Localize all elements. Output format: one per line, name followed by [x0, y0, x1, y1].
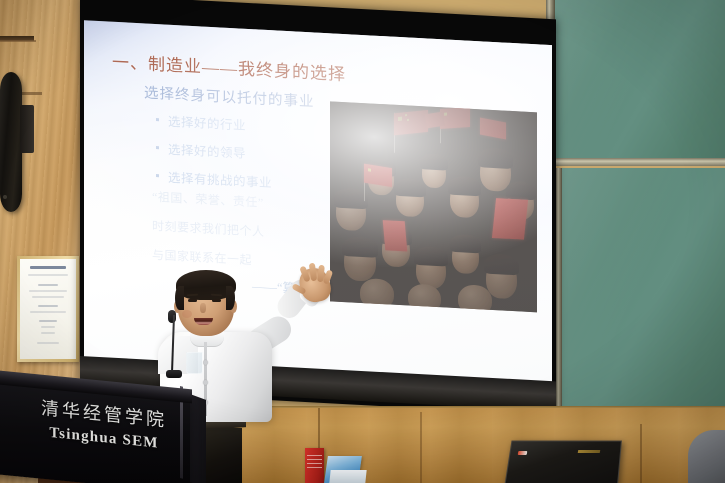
laptop-brand-text	[578, 450, 601, 453]
chalkboard-panel-top-right	[555, 0, 725, 162]
slide-subtitle: 选择终身可以托付的事业	[144, 81, 315, 111]
hair-side	[226, 286, 235, 310]
eye	[188, 299, 197, 302]
speaker-led-icon	[3, 195, 7, 199]
bullet-dot-icon	[156, 118, 159, 121]
wall-speaker-icon	[0, 72, 22, 212]
lecture-hall-photo: 一、制造业——我终身的选择 选择终身可以托付的事业 选择好的行业 选择好的领导 …	[0, 0, 725, 483]
laptop-logo-icon	[518, 451, 528, 455]
red-book-cover-text	[307, 455, 322, 469]
hair-side	[175, 286, 184, 310]
slide-title: 一、制造业——我终身的选择	[112, 48, 346, 85]
wall-notice-board	[17, 256, 79, 362]
lectern: 清华经管学院 Tsinghua SEM	[0, 368, 206, 483]
chalkboard-frame-vertical-inner	[556, 168, 562, 424]
white-paper-stack	[329, 470, 366, 483]
bullet-dot-icon	[156, 174, 159, 177]
bullet-dot-icon	[156, 146, 159, 149]
chalkboard-frame-horizontal-right	[555, 158, 725, 166]
bullet-text: 选择好的行业	[168, 111, 246, 134]
shirt-button	[203, 360, 208, 365]
eye	[212, 299, 221, 302]
quote-line: 时刻要求我们把个人	[152, 217, 382, 246]
slide-bullet-item: 选择好的领导	[156, 138, 366, 168]
speaker-bracket	[20, 105, 34, 153]
nose	[200, 303, 206, 313]
chair-backrest	[688, 430, 725, 483]
cheek	[182, 310, 192, 318]
bullet-text: 选择好的领导	[168, 139, 246, 162]
notice-paper	[20, 259, 76, 359]
desk-panel-seam	[420, 412, 422, 483]
wall-trim-upper-highlight	[0, 40, 36, 42]
laptop-lid	[504, 441, 622, 483]
chalkboard-panel-bottom-right	[560, 168, 725, 418]
bullet-text: 选择有挑战的事业	[168, 167, 272, 192]
